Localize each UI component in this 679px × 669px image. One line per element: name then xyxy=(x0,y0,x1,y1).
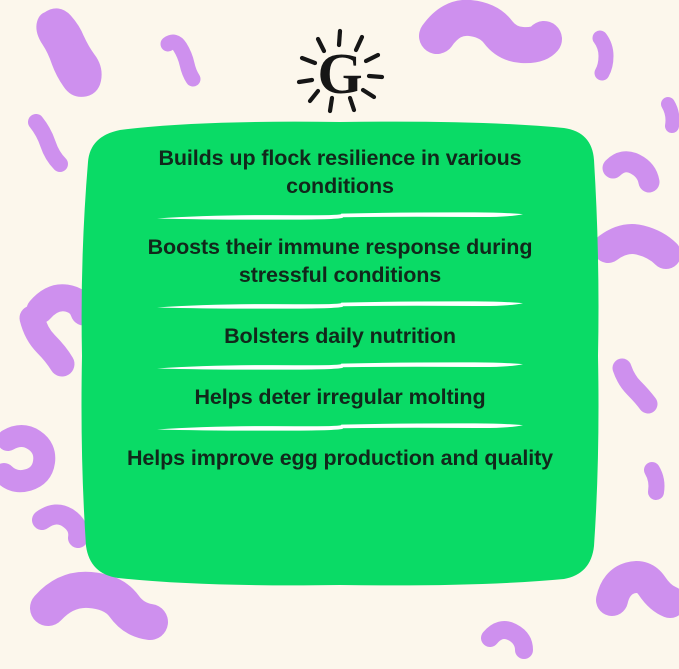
list-item: Boosts their immune response during stre… xyxy=(110,233,570,289)
poster-canvas: G Builds up flock resilience in various … xyxy=(0,0,679,669)
purple-squiggle-blob xyxy=(437,18,544,45)
purple-squiggle-blob xyxy=(622,368,648,404)
logo-ray xyxy=(302,58,315,63)
logo-ray xyxy=(369,76,382,77)
purple-squiggle-blob xyxy=(490,630,524,650)
purple-squiggle-blob xyxy=(612,577,670,602)
purple-squiggle-blob xyxy=(668,104,673,126)
brand-logo: G xyxy=(292,25,388,117)
benefits-list: Builds up flock resilience in various co… xyxy=(78,118,602,588)
benefits-card: Builds up flock resilience in various co… xyxy=(78,118,602,588)
list-item: Builds up flock resilience in various co… xyxy=(110,144,570,200)
divider-brush-stroke xyxy=(155,359,525,373)
purple-squiggle-blob xyxy=(42,514,78,538)
purple-squiggle-blob xyxy=(608,239,666,254)
sun-burst-g-logo-icon: G xyxy=(292,25,388,117)
purple-squiggle-blob xyxy=(4,436,44,481)
logo-letter: G xyxy=(317,41,362,106)
list-item: Helps deter irregular molting xyxy=(110,383,570,411)
purple-squiggle-blob xyxy=(600,38,606,73)
purple-squiggle-blob xyxy=(613,162,649,182)
purple-squiggle-blob xyxy=(652,470,657,492)
logo-ray xyxy=(363,90,374,97)
logo-ray xyxy=(366,55,378,61)
divider-brush-stroke xyxy=(155,420,525,434)
list-item: Helps improve egg production and quality xyxy=(110,444,570,472)
logo-ray xyxy=(299,80,312,82)
divider-brush-stroke xyxy=(155,209,525,223)
divider-brush-stroke xyxy=(155,298,525,312)
purple-squiggle-blob xyxy=(43,15,95,90)
purple-squiggle-blob xyxy=(32,318,62,364)
purple-squiggle-blob xyxy=(36,122,60,164)
list-item: Bolsters daily nutrition xyxy=(110,322,570,350)
purple-squiggle-blob xyxy=(168,42,193,79)
purple-squiggle-blob xyxy=(48,590,150,622)
